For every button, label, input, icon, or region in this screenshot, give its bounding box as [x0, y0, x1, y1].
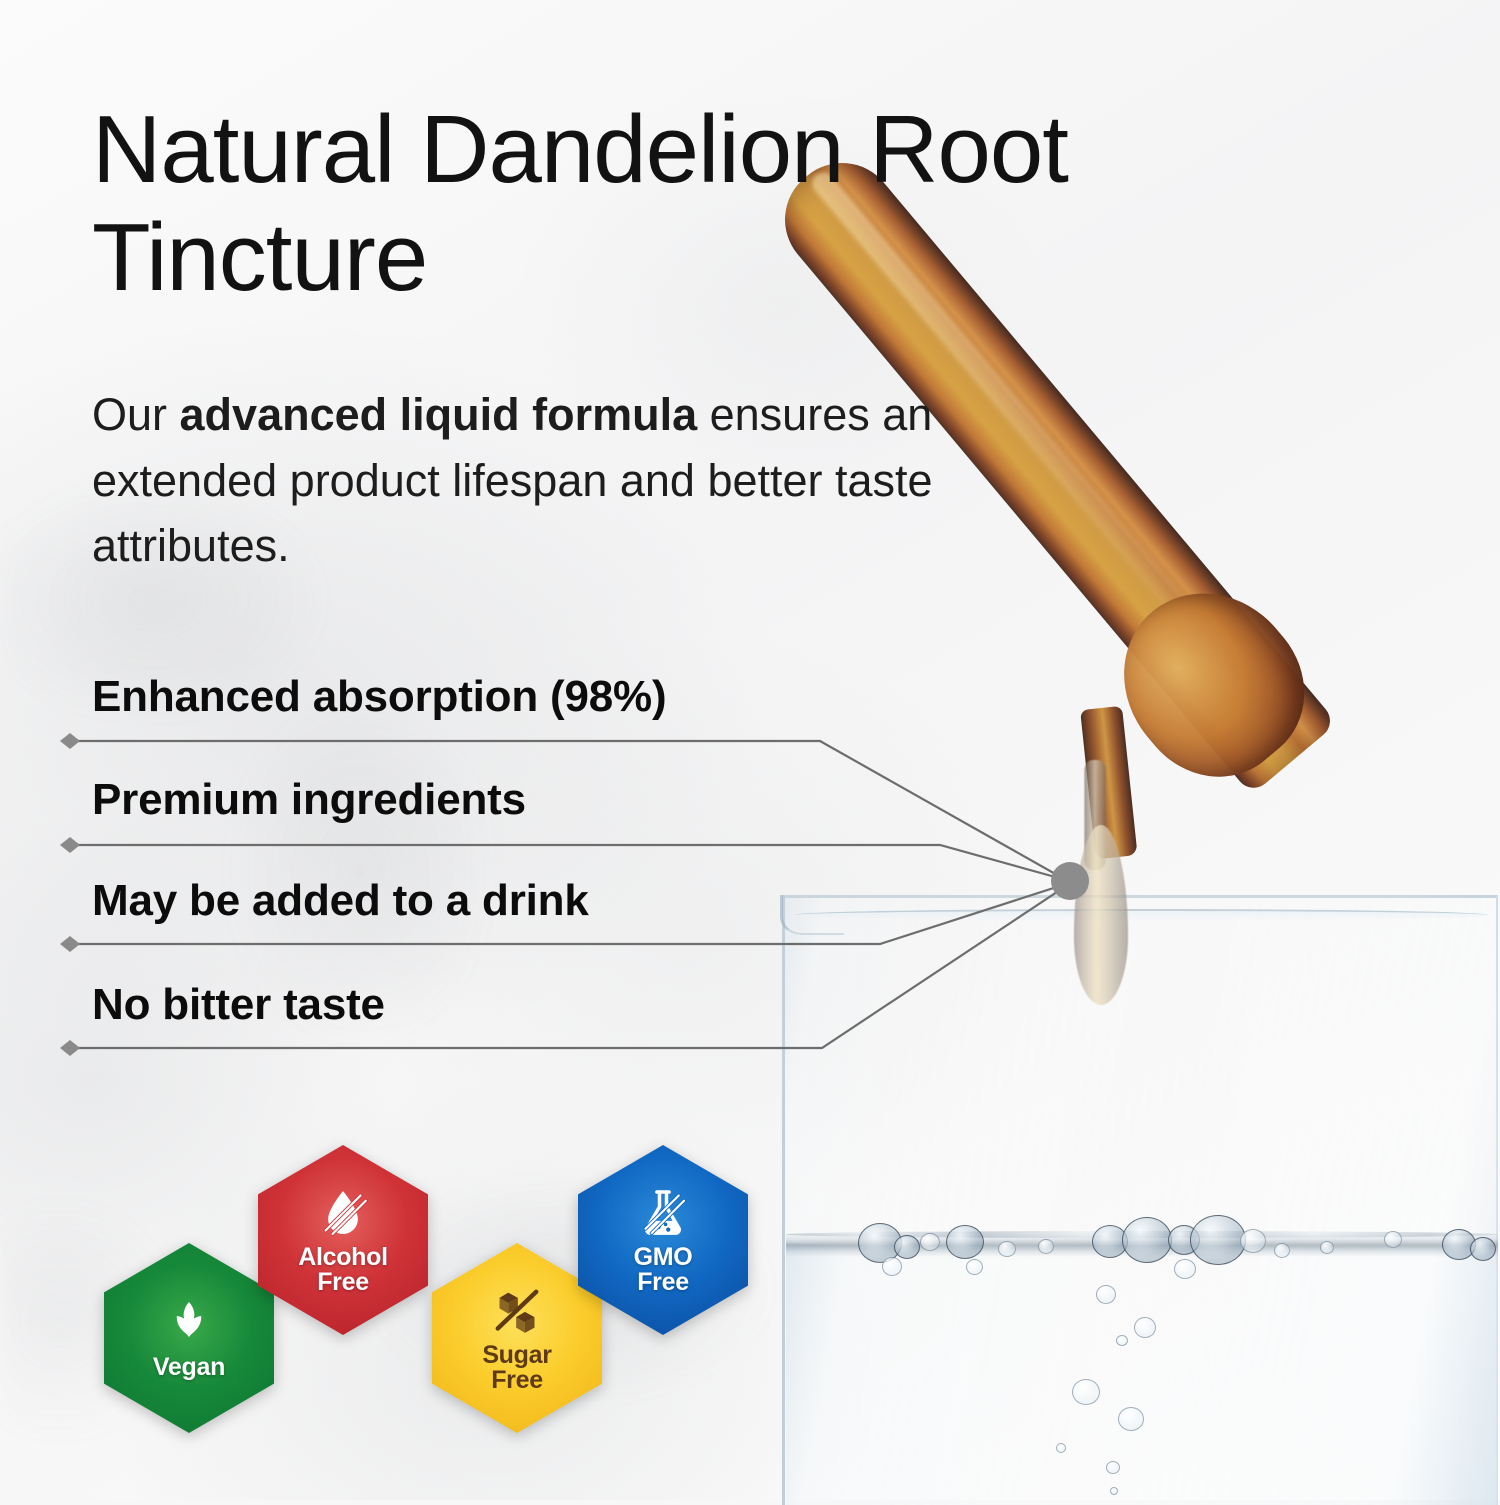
- leaf-icon: [161, 1295, 217, 1351]
- badge-gmo-free-label: GMOFree: [634, 1245, 693, 1296]
- droplet-slash-icon: [315, 1185, 371, 1241]
- flask-slash-icon: [635, 1185, 691, 1241]
- certification-badges: Vegan AlcoholFree: [0, 0, 1500, 1500]
- badge-alcohol-free-label: AlcoholFree: [298, 1245, 388, 1296]
- badge-sugar-free-label: SugarFree: [482, 1343, 551, 1394]
- badge-vegan-label: Vegan: [153, 1355, 225, 1381]
- sugar-cube-slash-icon: [489, 1283, 545, 1339]
